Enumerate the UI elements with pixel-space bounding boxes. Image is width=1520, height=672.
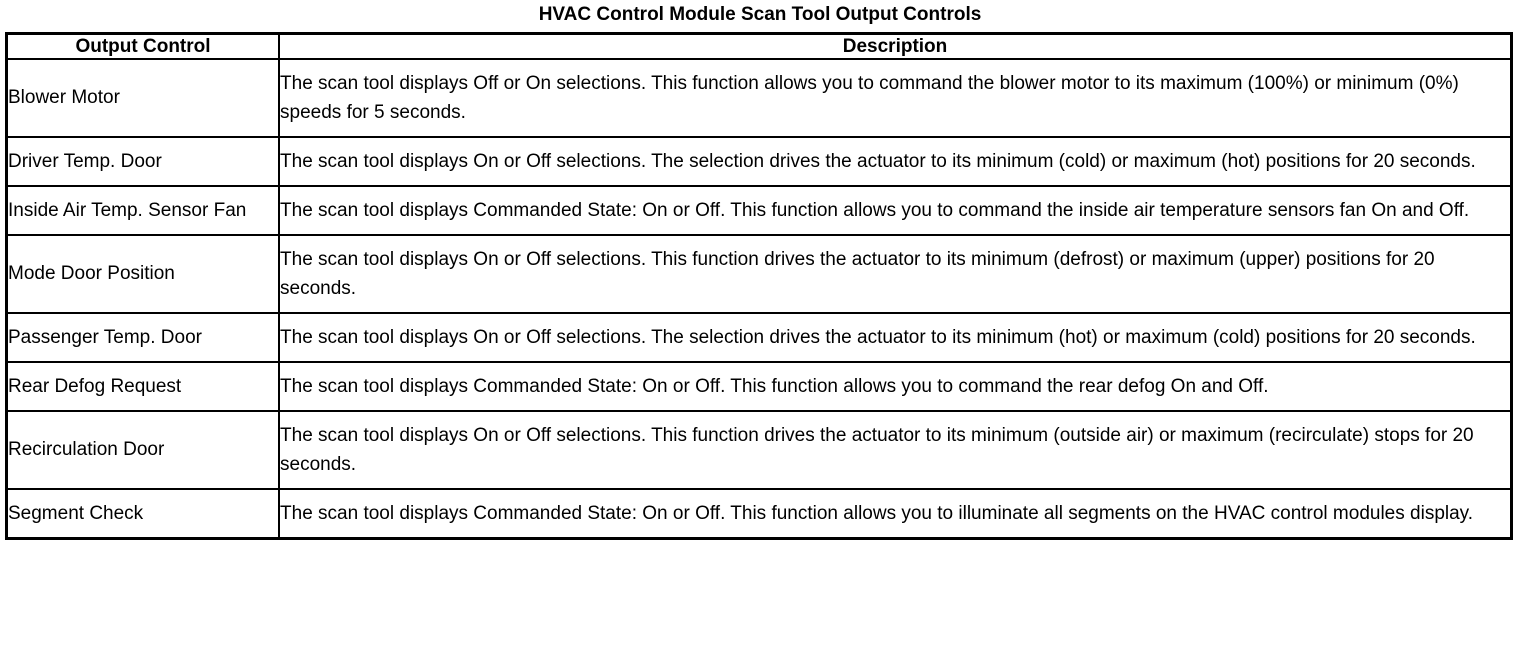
cell-description: The scan tool displays Commanded State: … — [279, 362, 1511, 411]
document-page: HVAC Control Module Scan Tool Output Con… — [0, 0, 1520, 672]
table-row: Driver Temp. Door The scan tool displays… — [7, 137, 1512, 186]
cell-description: The scan tool displays Off or On selecti… — [279, 59, 1511, 137]
table-header-row: Output Control Description — [7, 34, 1512, 60]
cell-description: The scan tool displays On or Off selecti… — [279, 411, 1511, 489]
table-row: Inside Air Temp. Sensor Fan The scan too… — [7, 186, 1512, 235]
cell-output-control: Driver Temp. Door — [7, 137, 280, 186]
table-row: Mode Door Position The scan tool display… — [7, 235, 1512, 313]
table-row: Passenger Temp. Door The scan tool displ… — [7, 313, 1512, 362]
table-row: Segment Check The scan tool displays Com… — [7, 489, 1512, 539]
cell-description: The scan tool displays On or Off selecti… — [279, 235, 1511, 313]
cell-output-control: Inside Air Temp. Sensor Fan — [7, 186, 280, 235]
cell-description: The scan tool displays On or Off selecti… — [279, 137, 1511, 186]
cell-output-control: Blower Motor — [7, 59, 280, 137]
table-row: Blower Motor The scan tool displays Off … — [7, 59, 1512, 137]
cell-output-control: Recirculation Door — [7, 411, 280, 489]
cell-description: The scan tool displays Commanded State: … — [279, 186, 1511, 235]
table-row: Rear Defog Request The scan tool display… — [7, 362, 1512, 411]
cell-output-control: Rear Defog Request — [7, 362, 280, 411]
table-body: Blower Motor The scan tool displays Off … — [7, 59, 1512, 539]
cell-description: The scan tool displays Commanded State: … — [279, 489, 1511, 539]
cell-output-control: Segment Check — [7, 489, 280, 539]
column-header-description: Description — [279, 34, 1511, 60]
cell-description: The scan tool displays On or Off selecti… — [279, 313, 1511, 362]
table-row: Recirculation Door The scan tool display… — [7, 411, 1512, 489]
output-controls-table: Output Control Description Blower Motor … — [5, 32, 1513, 540]
page-title: HVAC Control Module Scan Tool Output Con… — [0, 0, 1520, 32]
cell-output-control: Passenger Temp. Door — [7, 313, 280, 362]
column-header-output-control: Output Control — [7, 34, 280, 60]
cell-output-control: Mode Door Position — [7, 235, 280, 313]
